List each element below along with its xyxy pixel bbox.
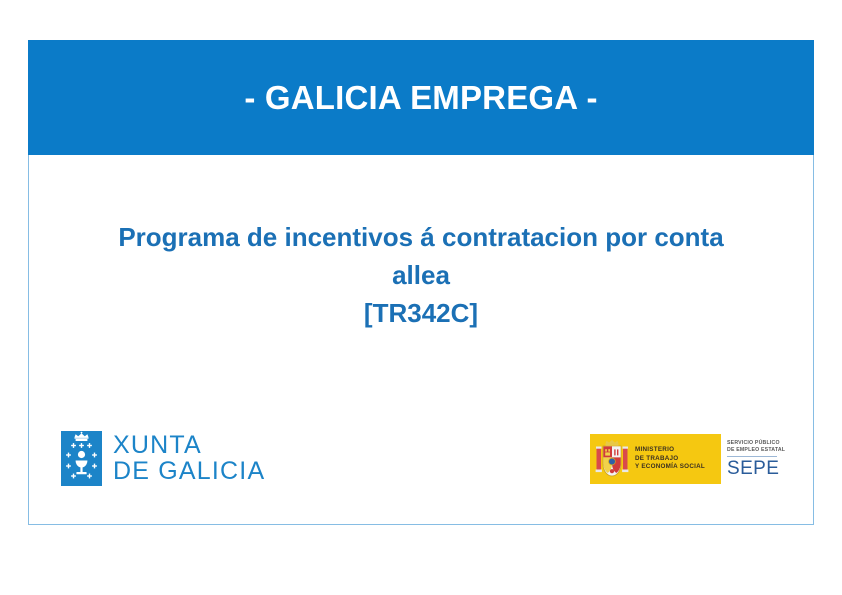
sepe-ministerio-logo: MINISTERIO DE TRABAJO Y ECONOMÍA SOCIAL …	[590, 434, 786, 484]
sepe-panel: SERVICIO PÚBLICO DE EMPLEO ESTATAL SEPE	[721, 434, 786, 484]
ministerio-line-2: DE TRABAJO	[635, 455, 705, 463]
program-description: Programa de incentivos á contratacion po…	[68, 218, 774, 332]
xunta-de-galicia-logo: XUNTA DE GALICIA	[61, 431, 265, 486]
ministerio-text: MINISTERIO DE TRABAJO Y ECONOMÍA SOCIAL	[635, 446, 705, 471]
ministerio-line-1: MINISTERIO	[635, 446, 705, 454]
xunta-shield-svg	[61, 431, 102, 486]
sepe-subtitle-line-2: DE EMPLEO ESTATAL	[727, 447, 786, 454]
sepe-subtitle-line-1: SERVICIO PÚBLICO	[727, 440, 786, 447]
sepe-wordmark: SEPE	[727, 459, 786, 479]
program-description-line-1: Programa de incentivos á contratacion po…	[68, 218, 774, 256]
ministerio-panel: MINISTERIO DE TRABAJO Y ECONOMÍA SOCIAL	[590, 434, 721, 484]
xunta-wordmark-line-2: DE GALICIA	[113, 459, 265, 485]
xunta-shield-emblem	[61, 431, 102, 486]
header-band: - GALICIA EMPREGA -	[28, 40, 814, 155]
program-description-line-2: allea	[68, 256, 774, 294]
logo-row: XUNTA DE GALICIA	[28, 425, 814, 495]
xunta-wordmark: XUNTA DE GALICIA	[113, 433, 265, 484]
xunta-wordmark-line-1: XUNTA	[113, 433, 265, 459]
sepe-subtitle: SERVICIO PÚBLICO DE EMPLEO ESTATAL	[727, 440, 786, 454]
ministerio-line-3: Y ECONOMÍA SOCIAL	[635, 463, 705, 471]
program-code: [TR342C]	[68, 294, 774, 332]
page-title: - GALICIA EMPREGA -	[244, 79, 597, 117]
sepe-divider	[727, 456, 777, 457]
spain-coat-of-arms-icon	[595, 439, 629, 479]
